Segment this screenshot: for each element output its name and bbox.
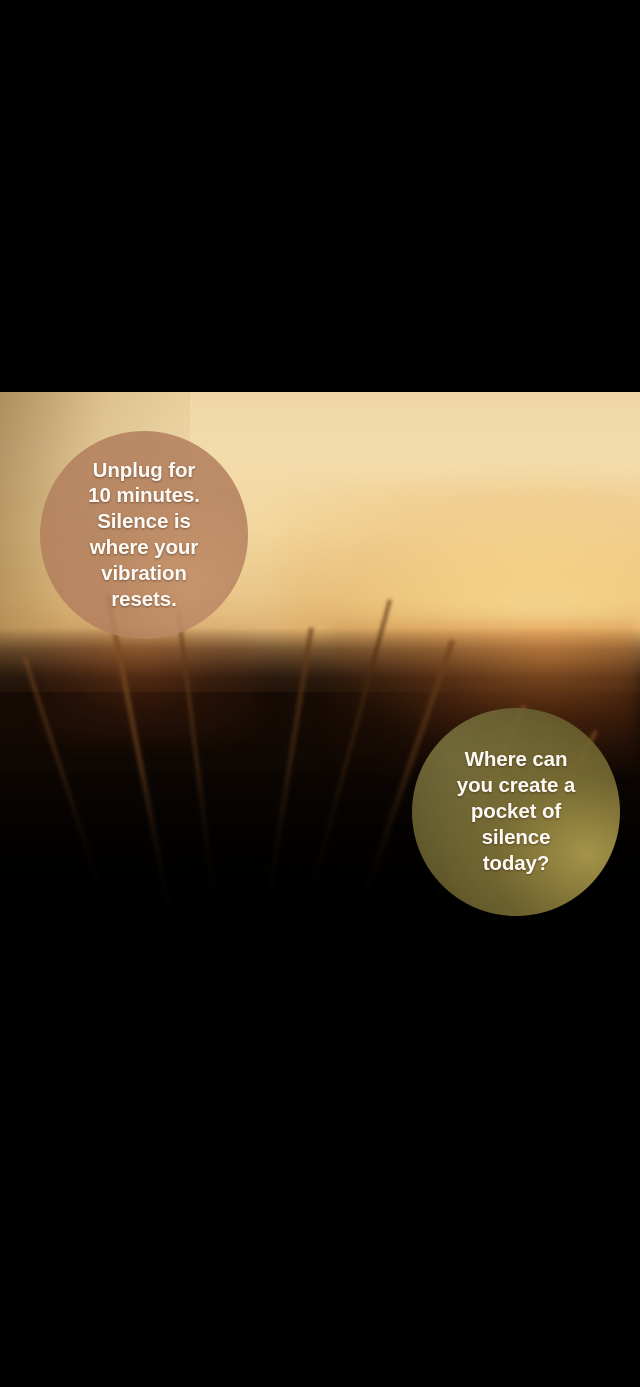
top-letterbox	[0, 0, 640, 392]
horizon-warm-glow-left	[40, 634, 260, 744]
unplug-text-bubble[interactable]: Unplug for 10 minutes. Silence is where …	[40, 431, 248, 639]
screen-stage: Unplug for 10 minutes. Silence is where …	[0, 0, 640, 1387]
unplug-bubble-text: Unplug for 10 minutes. Silence is where …	[74, 458, 214, 613]
video-frame[interactable]: Unplug for 10 minutes. Silence is where …	[0, 392, 640, 936]
question-text-bubble[interactable]: Where can you create a pocket of silence…	[412, 708, 620, 916]
question-bubble-text: Where can you create a pocket of silence…	[443, 747, 589, 876]
bottom-letterbox	[0, 936, 640, 1387]
